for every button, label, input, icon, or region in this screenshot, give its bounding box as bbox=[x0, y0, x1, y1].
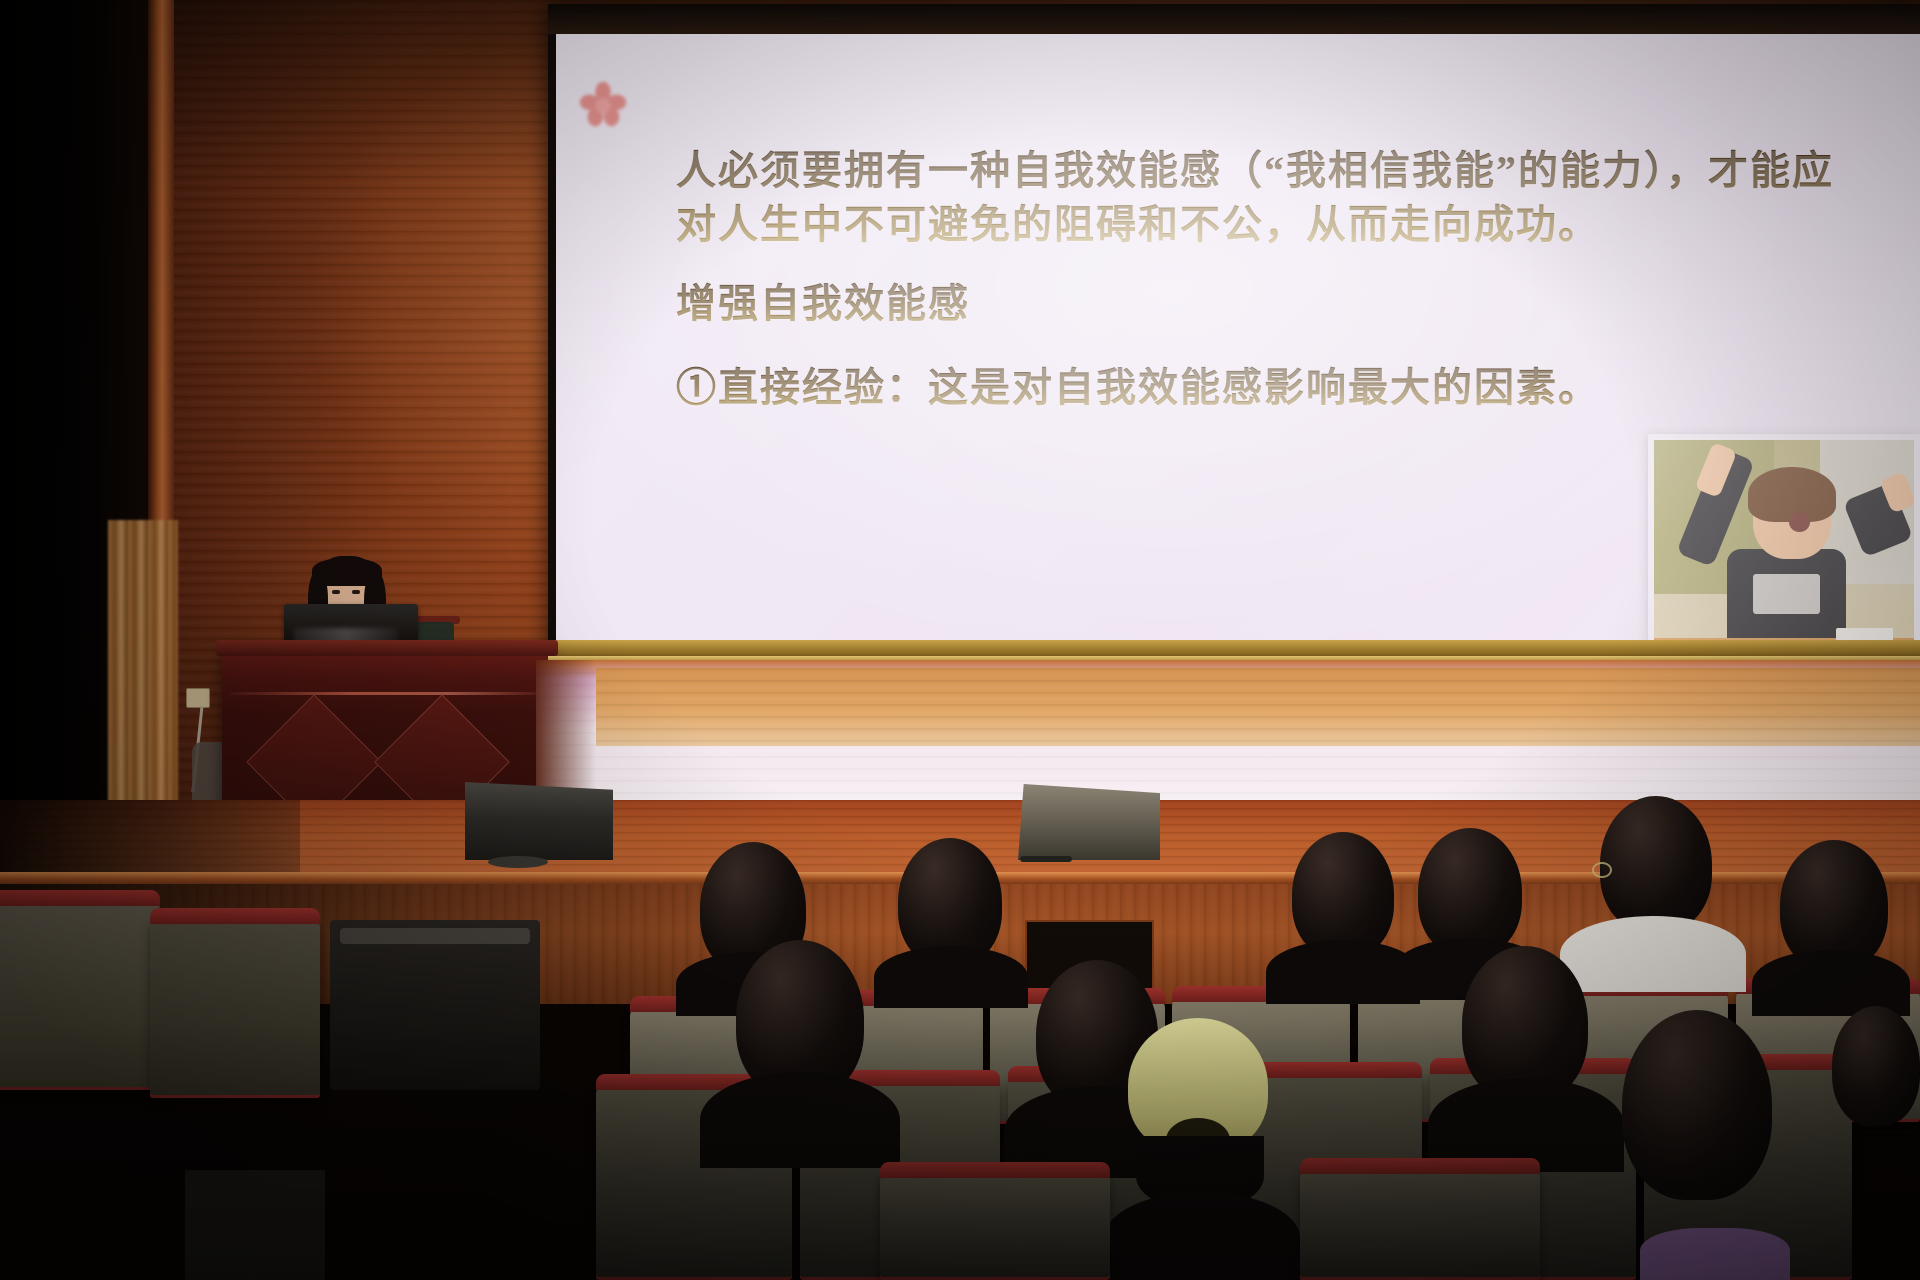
seat-left-front-block bbox=[185, 1170, 325, 1280]
seat-left-empty-1 bbox=[0, 900, 160, 1090]
seat-top-trim bbox=[1300, 1158, 1540, 1174]
slide-photo-frame bbox=[1648, 434, 1920, 642]
screen-top-trim bbox=[548, 4, 1920, 34]
seat-left-dark-block bbox=[330, 920, 540, 1090]
audience-purple-shirt bbox=[1640, 1228, 1790, 1280]
audience-head-ponytail bbox=[1622, 1010, 1772, 1200]
audience-shoulders-6 bbox=[700, 1072, 900, 1168]
stage-curtain bbox=[108, 520, 178, 820]
photo-color-wash bbox=[1654, 440, 1914, 642]
slide-paragraph-1: 人必须要拥有一种自我效能感（“我相信我能”的能力），才能应对人生中不可避免的阻碍… bbox=[676, 144, 1836, 251]
audience-head-glasses bbox=[1600, 796, 1712, 932]
audience-shoulders-white-shirt bbox=[1560, 916, 1746, 992]
stage-monitor-right-cable bbox=[1020, 856, 1072, 862]
auditorium-scene: 人必须要拥有一种自我效能感（“我相信我能”的能力），才能应对人生中不可避免的阻碍… bbox=[0, 0, 1920, 1280]
slide-paragraph-3: ①直接经验：这是对自我效能感影响最大的因素。 bbox=[676, 361, 1836, 415]
stage-monitor-left-base bbox=[488, 856, 548, 868]
stage-monitor-right bbox=[1018, 784, 1160, 860]
presenter-eye-left bbox=[332, 590, 340, 594]
seat-top-trim bbox=[880, 1162, 1110, 1178]
audience-shoulders-5 bbox=[1752, 950, 1910, 1016]
projection-screen-frame: 人必须要拥有一种自我效能感（“我相信我能”的能力），才能应对人生中不可避免的阻碍… bbox=[548, 4, 1920, 664]
stage-monitor-left bbox=[465, 782, 613, 860]
seat-front-1 bbox=[880, 1172, 1110, 1280]
slide-text-block: 人必须要拥有一种自我效能感（“我相信我能”的能力），才能应对人生中不可避免的阻碍… bbox=[676, 144, 1836, 440]
seat-top-trim bbox=[0, 890, 160, 906]
lower-wall-wood-strip bbox=[596, 668, 1920, 746]
seat-top-trim bbox=[150, 908, 320, 924]
seat-left-empty-2 bbox=[150, 918, 320, 1098]
seat-left-dark-top bbox=[340, 928, 530, 944]
seat-front-2 bbox=[1300, 1168, 1540, 1280]
pink-blossom-icon bbox=[576, 80, 630, 128]
slide-paragraph-2: 增强自我效能感 bbox=[676, 277, 1836, 331]
eyeglasses-icon bbox=[1592, 862, 1612, 878]
podium-trim-line bbox=[230, 692, 544, 695]
audience-shoulders-cap bbox=[1104, 1192, 1300, 1280]
projection-screen: 人必须要拥有一种自我效能感（“我相信我能”的能力），才能应对人生中不可避免的阻碍… bbox=[556, 34, 1920, 642]
audience-head-4 bbox=[1418, 828, 1522, 956]
podium-top-edge bbox=[216, 640, 558, 656]
audience-shoulders-2 bbox=[874, 946, 1028, 1008]
wall-power-outlet bbox=[186, 688, 210, 708]
audience-head-9 bbox=[1832, 1006, 1920, 1126]
presenter-eye-right bbox=[352, 590, 360, 594]
excited-boy-photo bbox=[1654, 440, 1914, 642]
